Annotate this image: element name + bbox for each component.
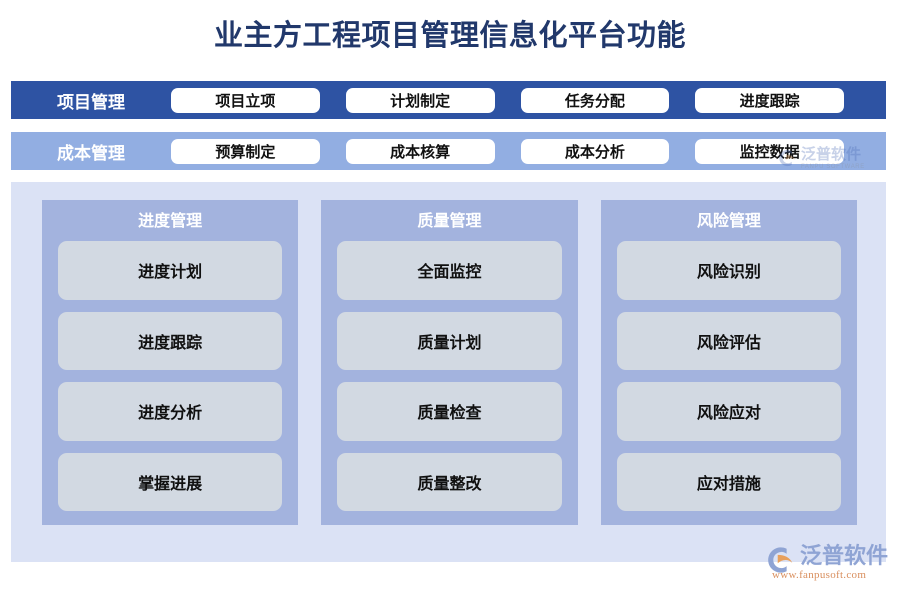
column-title: 进度管理 (58, 209, 282, 235)
module-columns: 进度管理 进度计划 进度跟踪 进度分析 掌握进展 质量管理 全面监控 质量计划 … (42, 200, 857, 525)
category-label: 项目管理 (11, 88, 171, 113)
module-card[interactable]: 风险应对 (617, 382, 841, 441)
module-card[interactable]: 应对措施 (617, 453, 841, 512)
column-title: 风险管理 (617, 209, 841, 235)
category-pill[interactable]: 计划制定 (346, 88, 495, 113)
module-card[interactable]: 质量整改 (337, 453, 561, 512)
module-card[interactable]: 进度计划 (58, 241, 282, 300)
brand-logo: 泛普软件 www.fanpusoft.com (766, 543, 890, 593)
module-column-quality: 质量管理 全面监控 质量计划 质量检查 质量整改 (321, 200, 577, 525)
module-card[interactable]: 质量计划 (337, 312, 561, 371)
card-list: 进度计划 进度跟踪 进度分析 掌握进展 (58, 241, 282, 511)
brand-texts: 泛普软件 www.fanpusoft.com (800, 543, 888, 582)
module-card[interactable]: 进度跟踪 (58, 312, 282, 371)
category-bar-project-management: 项目管理 项目立项 计划制定 任务分配 进度跟踪 (11, 81, 886, 119)
category-pill[interactable]: 监控数据 (695, 139, 844, 164)
brand-url: www.fanpusoft.com (772, 569, 888, 582)
category-pill[interactable]: 成本分析 (521, 139, 670, 164)
category-pill-group: 预算制定 成本核算 成本分析 监控数据 (171, 139, 886, 164)
category-pill[interactable]: 成本核算 (346, 139, 495, 164)
category-pill[interactable]: 进度跟踪 (695, 88, 844, 113)
module-card[interactable]: 风险识别 (617, 241, 841, 300)
content-area: 进度管理 进度计划 进度跟踪 进度分析 掌握进展 质量管理 全面监控 质量计划 … (11, 182, 886, 562)
category-label: 成本管理 (11, 139, 171, 164)
slide-canvas: 业主方工程项目管理信息化平台功能 项目管理 项目立项 计划制定 任务分配 进度跟… (0, 0, 900, 600)
module-card[interactable]: 掌握进展 (58, 453, 282, 512)
category-pill-group: 项目立项 计划制定 任务分配 进度跟踪 (171, 88, 886, 113)
card-list: 风险识别 风险评估 风险应对 应对措施 (617, 241, 841, 511)
module-card[interactable]: 质量检查 (337, 382, 561, 441)
page-title: 业主方工程项目管理信息化平台功能 (0, 16, 900, 56)
category-pill[interactable]: 项目立项 (171, 88, 320, 113)
brand-name-cn: 泛普软件 (800, 543, 888, 569)
category-pill[interactable]: 预算制定 (171, 139, 320, 164)
column-title: 质量管理 (337, 209, 561, 235)
module-column-schedule: 进度管理 进度计划 进度跟踪 进度分析 掌握进展 (42, 200, 298, 525)
module-card[interactable]: 风险评估 (617, 312, 841, 371)
category-bar-cost-management: 成本管理 预算制定 成本核算 成本分析 监控数据 (11, 132, 886, 170)
module-column-risk: 风险管理 风险识别 风险评估 风险应对 应对措施 (601, 200, 857, 525)
module-card[interactable]: 进度分析 (58, 382, 282, 441)
module-card[interactable]: 全面监控 (337, 241, 561, 300)
category-pill[interactable]: 任务分配 (521, 88, 670, 113)
card-list: 全面监控 质量计划 质量检查 质量整改 (337, 241, 561, 511)
